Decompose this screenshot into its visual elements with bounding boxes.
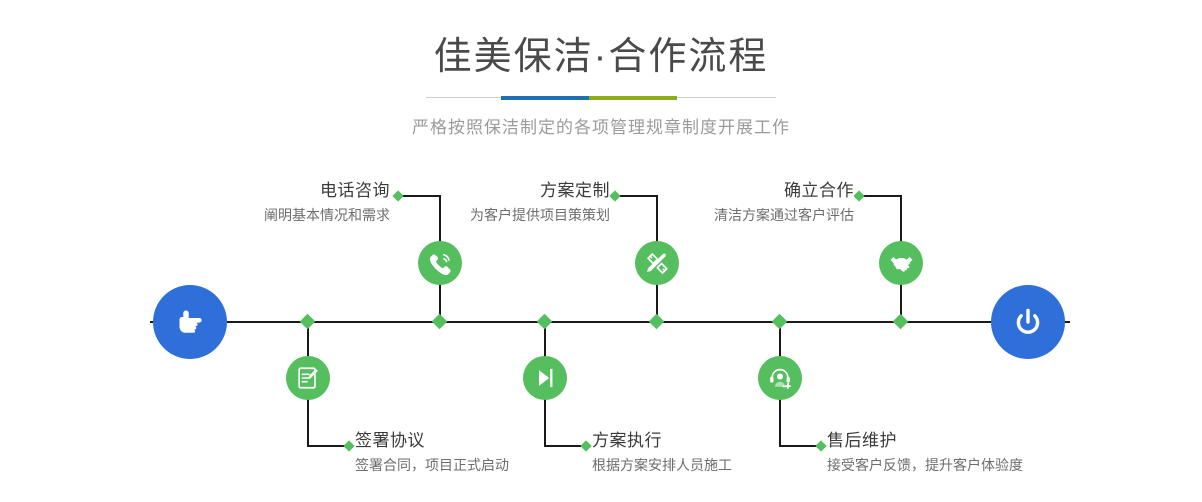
connector-dot-step-5 [853,190,864,201]
axis-node-5 [772,314,788,330]
step-icon-5[interactable] [879,241,923,285]
process-flow: 电话咨询 阐明基本情况和需求 签署协议 签署合同，项目正式启动 [0,150,1202,502]
step-icon-2[interactable] [286,356,330,400]
step-desc-6: 接受客户反馈，提升客户体验度 [827,456,1023,474]
axis-node-4 [649,314,665,330]
connector-dot-step-2 [343,440,354,451]
step-icon-1[interactable] [418,241,462,285]
step-desc-3: 为客户提供项目策策划 [330,206,610,224]
step-label-6: 售后维护 接受客户反馈，提升客户体验度 [827,430,1023,474]
connector-dot-step-4 [580,440,591,451]
connector-horizontal-step-5 [860,195,901,197]
step-desc-5: 清洁方案通过客户评估 [575,206,854,224]
step-desc-2: 签署合同，项目正式启动 [355,456,509,474]
header: 佳美保洁·合作流程 严格按照保洁制定的各项管理规章制度开展工作 [0,0,1202,138]
axis-node-2 [432,314,448,330]
handshake-icon [888,250,915,277]
start-node [153,285,227,359]
step-icon-3[interactable] [635,241,679,285]
step-label-5: 确立合作 清洁方案通过客户评估 [575,180,854,224]
customer-service-add-icon [767,365,793,391]
divider-segment-green [589,96,677,100]
step-label-4: 方案执行 根据方案安排人员施工 [592,430,732,474]
divider-segment-blue [501,96,589,100]
step-title-2: 签署协议 [355,430,509,451]
step-desc-4: 根据方案安排人员施工 [592,456,732,474]
axis-node-1 [300,314,316,330]
power-icon [1008,302,1048,342]
step-title-4: 方案执行 [592,430,732,451]
step-title-6: 售后维护 [827,430,1023,451]
connector-dot-step-6 [815,440,826,451]
timeline-axis [150,321,1070,323]
cooperation-process-infographic: 佳美保洁·合作流程 严格按照保洁制定的各项管理规章制度开展工作 [0,0,1202,502]
axis-node-6 [893,314,909,330]
step-icon-6[interactable] [758,356,802,400]
title-divider [426,96,776,100]
document-edit-icon [295,365,321,391]
step-title-5: 确立合作 [575,180,854,201]
pointing-hand-icon [170,302,210,342]
phone-call-icon [427,250,454,277]
page-subtitle: 严格按照保洁制定的各项管理规章制度开展工作 [0,100,1202,138]
page-title: 佳美保洁·合作流程 [0,0,1202,80]
pencil-ruler-icon [644,250,671,277]
axis-node-3 [537,314,553,330]
step-label-3: 方案定制 为客户提供项目策策划 [330,180,610,224]
step-icon-4[interactable] [523,356,567,400]
step-label-2: 签署协议 签署合同，项目正式启动 [355,430,509,474]
play-execute-icon [532,365,558,391]
step-title-3: 方案定制 [330,180,610,201]
end-node [991,285,1065,359]
